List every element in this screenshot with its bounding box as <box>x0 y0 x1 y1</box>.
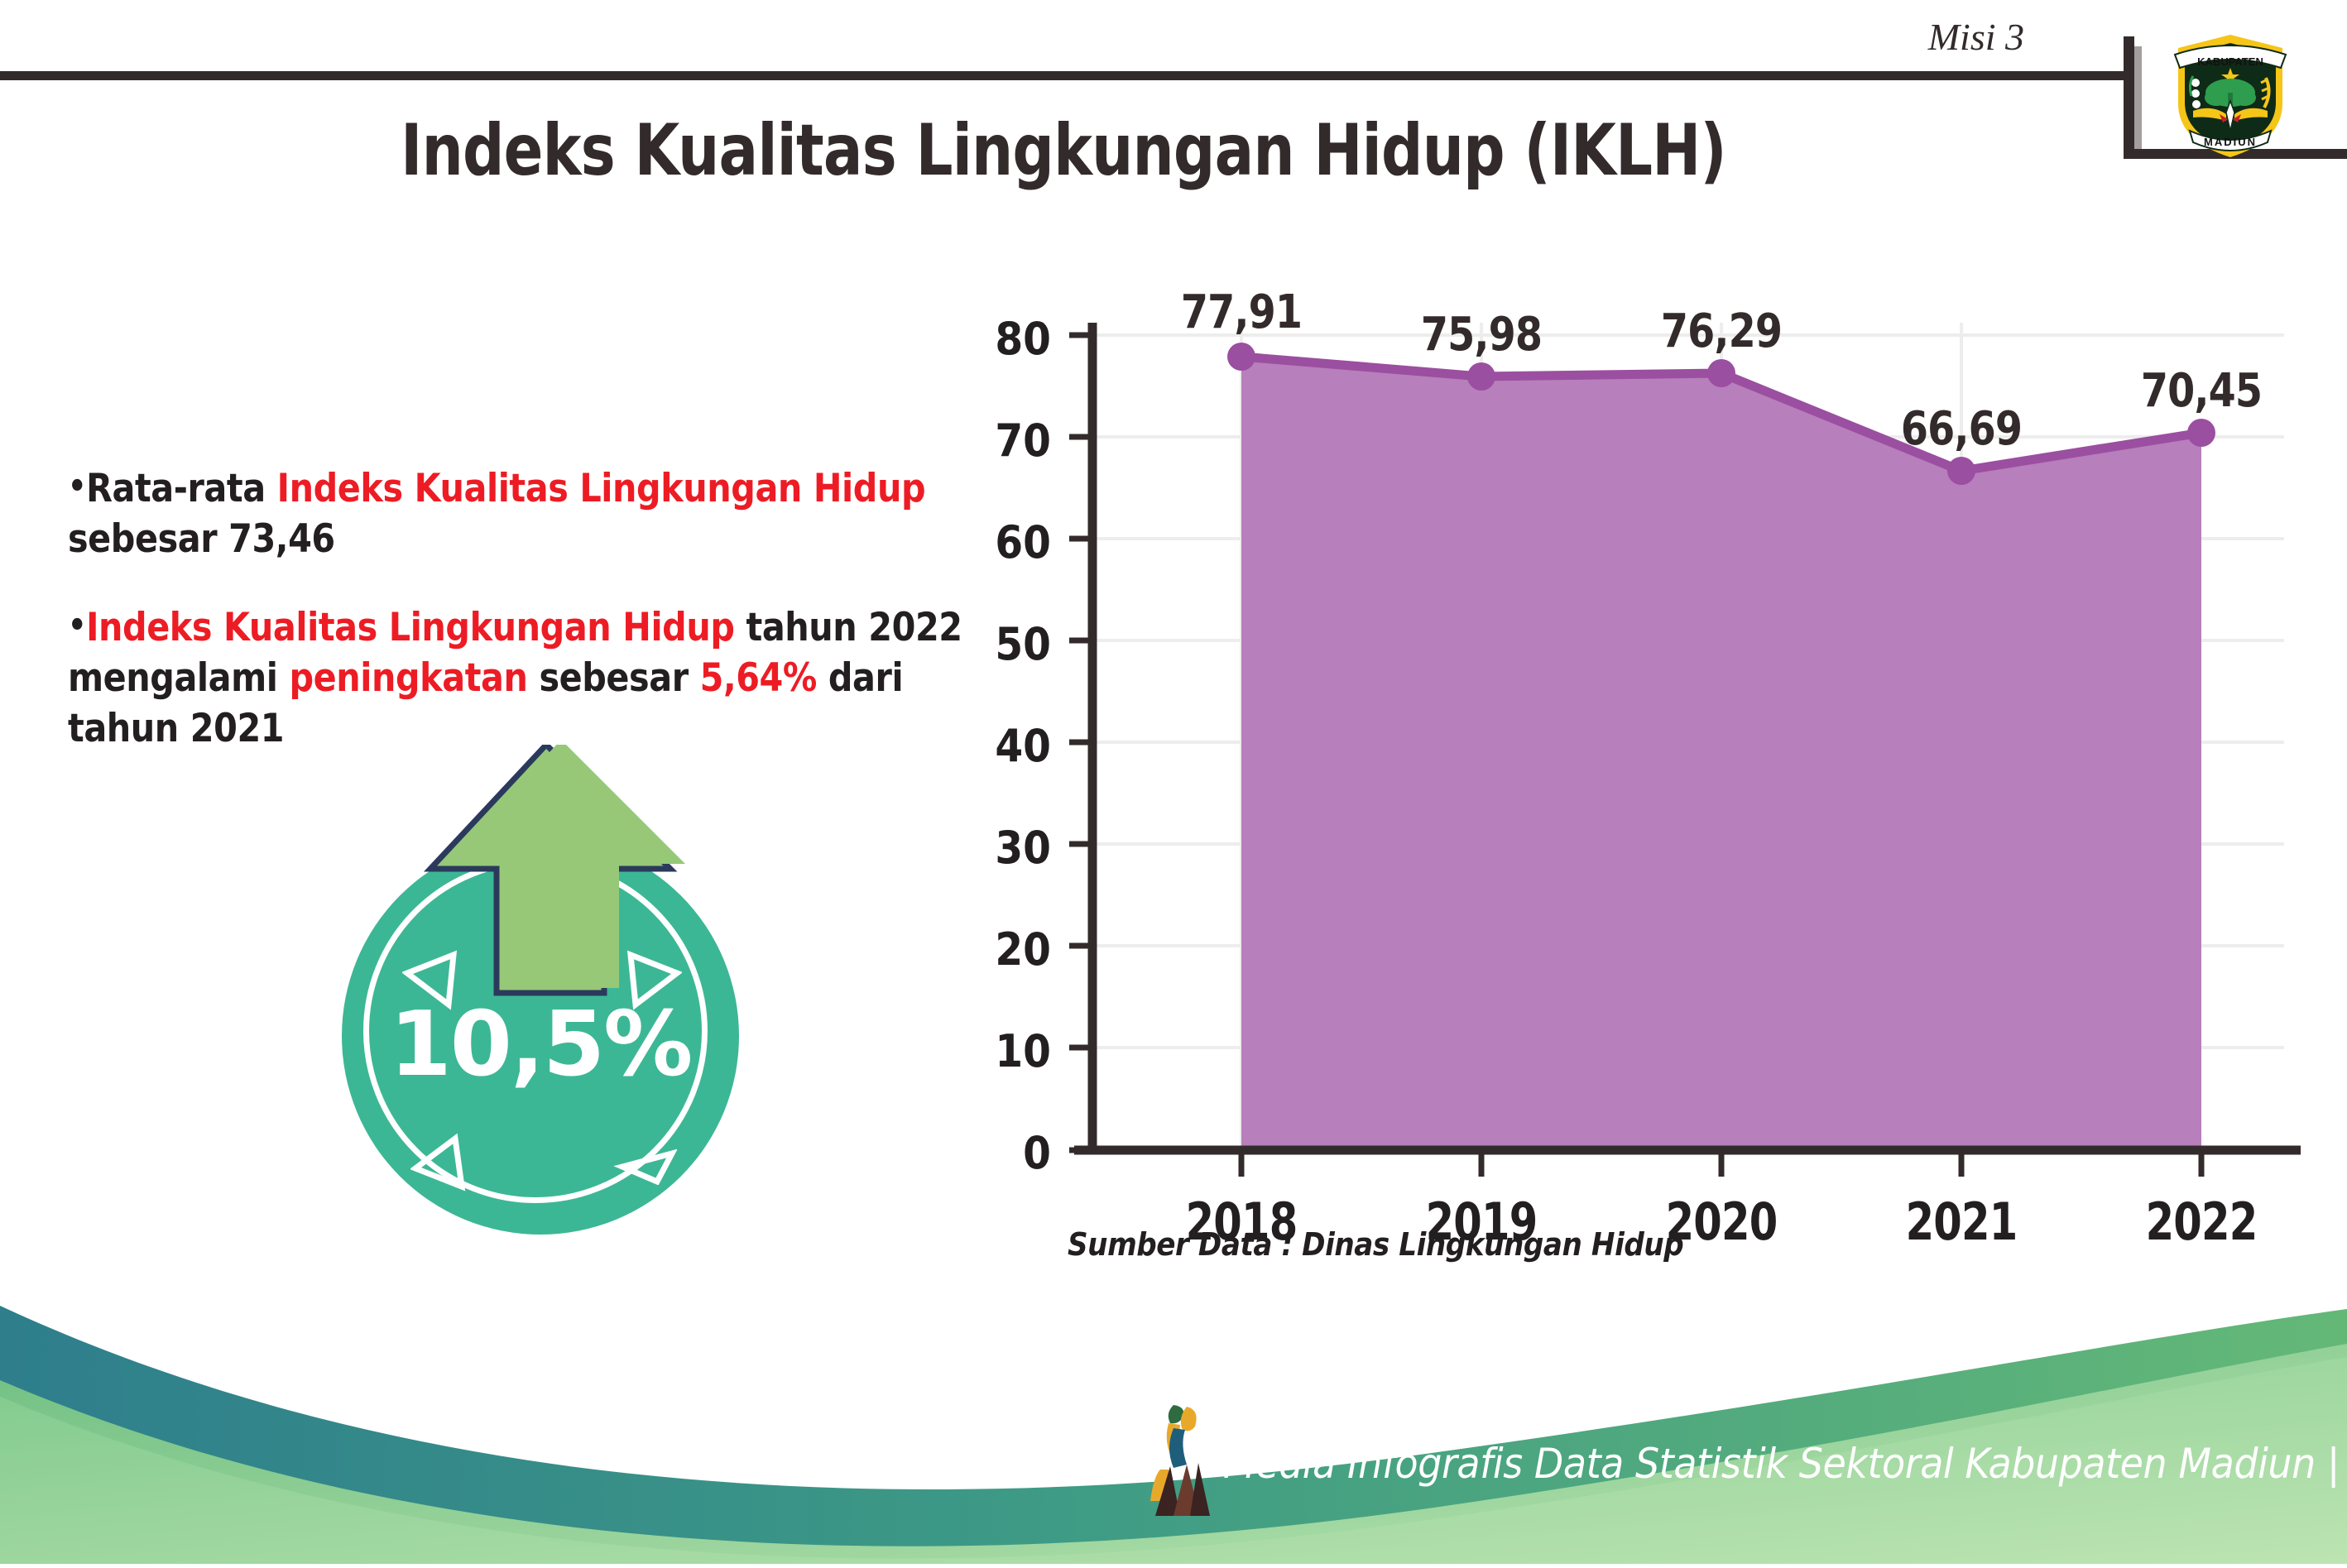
bullet-text-plain: sebesar 73,46 <box>68 516 335 562</box>
area-fill <box>1241 357 2201 1150</box>
y-axis-label: 60 <box>954 516 1051 568</box>
increase-badge: 10,5% <box>329 745 793 1208</box>
bullet-text-plain: mengalami <box>68 655 289 701</box>
svg-text:KABUPATEN: KABUPATEN <box>2197 55 2263 68</box>
bullet-text-plain: dari <box>817 655 903 701</box>
x-axis-label: 2022 <box>2129 1192 2274 1252</box>
list-item: •Rata-rata Indeks Kualitas Lingkungan Hi… <box>68 463 970 564</box>
iklh-area-chart: 0 10 20 30 40 50 60 70 80 2018 2019 2020… <box>977 290 2301 1299</box>
bullet-text-highlight: peningkatan <box>289 655 527 701</box>
list-item: •Indeks Kualitas Lingkungan Hidup tahun … <box>68 602 970 754</box>
insight-list: •Rata-rata Indeks Kualitas Lingkungan Hi… <box>68 463 970 792</box>
kabupaten-madiun-logo: KABUPATEN MADIUN <box>2168 25 2292 161</box>
footer-text: Media Infografis Data Statistik Sektoral… <box>1223 1440 2340 1488</box>
header-divider <box>0 71 2127 80</box>
bullet-line: sebesar 73,46 <box>68 514 862 564</box>
badge-value: 10,5% <box>342 993 739 1096</box>
page-title: Indeks Kualitas Lingkungan Hidup (IKLH) <box>191 109 1935 192</box>
data-label: 75,98 <box>1397 308 1566 362</box>
y-axis-label: 50 <box>954 618 1051 670</box>
bullet-text-highlight: Indeks Kualitas Lingkungan Hidup <box>277 466 925 511</box>
misi-label: Misi 3 <box>1928 15 2024 59</box>
y-axis-label: 40 <box>954 720 1051 772</box>
tick-triangle-bottom-right-icon <box>602 1119 677 1185</box>
bullet-text-highlight: 5,64% <box>700 655 817 701</box>
chart-source-note: Sumber Data : Dinas Lingkungan Hidup <box>1068 1226 1683 1263</box>
y-axis-label: 20 <box>954 923 1051 976</box>
y-axis-label: 70 <box>954 415 1051 467</box>
bullet-line: •Rata-rata Indeks Kualitas Lingkungan Hi… <box>68 463 862 514</box>
bullet-text-plain: tahun 2021 <box>68 706 284 751</box>
x-axis-label: 2021 <box>1889 1192 2034 1252</box>
y-axis-label: 10 <box>954 1025 1051 1077</box>
data-label: 76,29 <box>1637 304 1806 358</box>
svg-text:MADIUN: MADIUN <box>2204 136 2257 148</box>
statistik-figure-logo <box>1140 1398 1231 1522</box>
y-axis-label: 80 <box>954 313 1051 365</box>
logo-bracket-shadow <box>2134 46 2142 159</box>
bullet-dot: • <box>68 468 86 506</box>
bullet-text-highlight: Indeks Kualitas Lingkungan Hidup <box>86 605 734 650</box>
footer: Media Infografis Data Statistik Sektoral… <box>0 1291 2347 1564</box>
y-axis-label: 0 <box>954 1127 1051 1179</box>
bullet-dot: • <box>68 607 86 645</box>
data-label: 77,91 <box>1157 285 1326 339</box>
data-label: 66,69 <box>1877 402 2046 456</box>
bullet-text-plain: Rata-rata <box>86 466 277 511</box>
bullet-line: mengalami peningkatan sebesar 5,64% dari <box>68 653 862 703</box>
bullet-text-plain: sebesar <box>528 655 700 701</box>
bullet-line: •Indeks Kualitas Lingkungan Hidup tahun … <box>68 602 862 653</box>
logo-bracket-vertical <box>2124 36 2134 159</box>
data-label: 70,45 <box>2117 364 2286 418</box>
tick-triangle-bottom-left-icon <box>410 1129 485 1195</box>
chart-canvas <box>977 290 2301 1299</box>
y-axis-label: 30 <box>954 822 1051 874</box>
bullet-text-plain: tahun 2022 <box>735 605 962 650</box>
